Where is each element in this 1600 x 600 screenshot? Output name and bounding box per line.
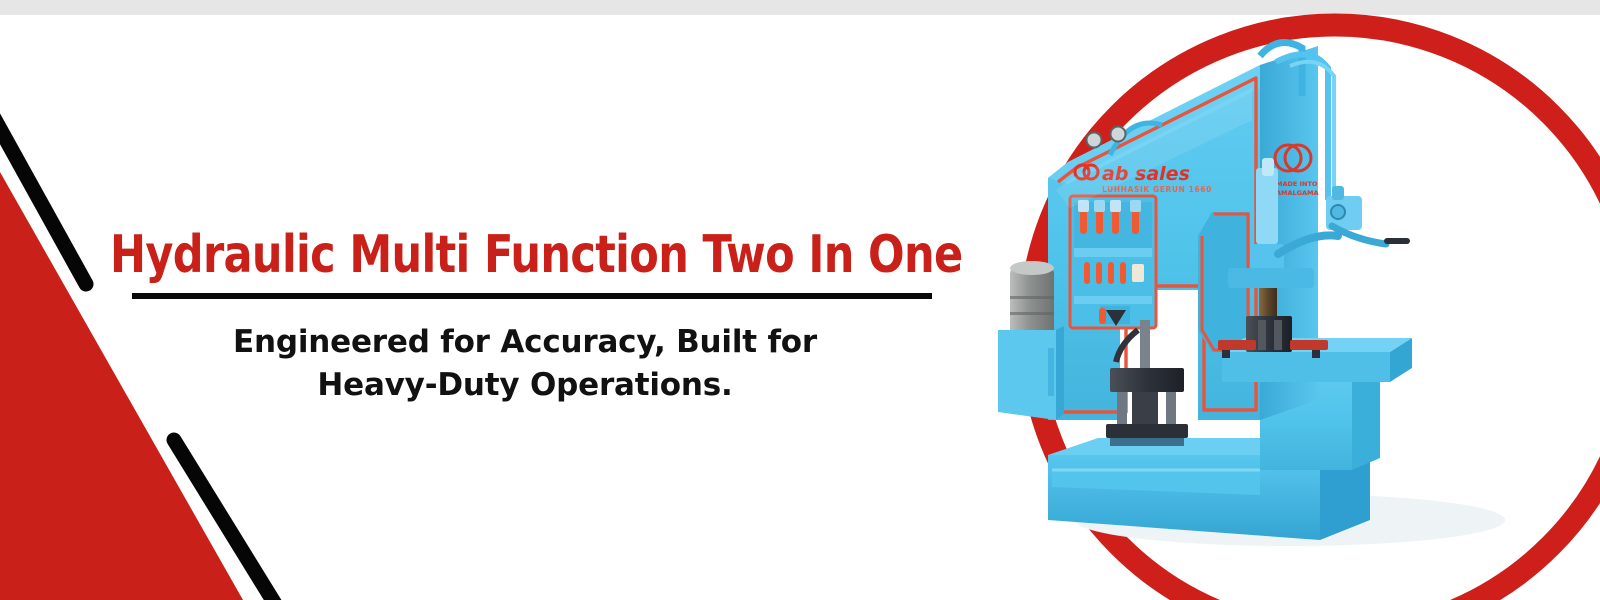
machine-oil-tank xyxy=(998,330,1056,420)
svg-text:AMALGAMA: AMALGAMA xyxy=(1276,189,1319,197)
subtitle-line-2: Heavy-Duty Operations. xyxy=(110,364,940,407)
subtitle-line-1: Engineered for Accuracy, Built for xyxy=(110,321,940,364)
title-divider-rule xyxy=(132,293,932,299)
machine-indicator-lamp-1 xyxy=(1087,133,1102,148)
machine-clamp-right xyxy=(1290,340,1328,350)
svg-text:MADE INTO: MADE INTO xyxy=(1276,180,1318,188)
product-image-area: ab sales LUHHASIK GERUN 1660 MADE INTO A… xyxy=(960,0,1600,600)
headline-block: Hydraulic Multi Function Two In One Engi… xyxy=(110,228,970,407)
page-title: Hydraulic Multi Function Two In One xyxy=(110,228,901,282)
machine-motor-assembly xyxy=(1010,261,1054,336)
subtitle: Engineered for Accuracy, Built for Heavy… xyxy=(110,321,940,407)
machine-control-panel xyxy=(1070,196,1156,328)
machine-foot-valve xyxy=(1099,306,1130,326)
hydraulic-press-machine: ab sales LUHHASIK GERUN 1660 MADE INTO A… xyxy=(998,43,1505,546)
machine-indicator-lamp-2 xyxy=(1111,127,1126,142)
promo-banner: Hydraulic Multi Function Two In One Engi… xyxy=(0,0,1600,600)
machine-clamp-left xyxy=(1218,340,1256,350)
svg-text:LUHHASIK GERUN 1660: LUHHASIK GERUN 1660 xyxy=(1102,185,1212,194)
